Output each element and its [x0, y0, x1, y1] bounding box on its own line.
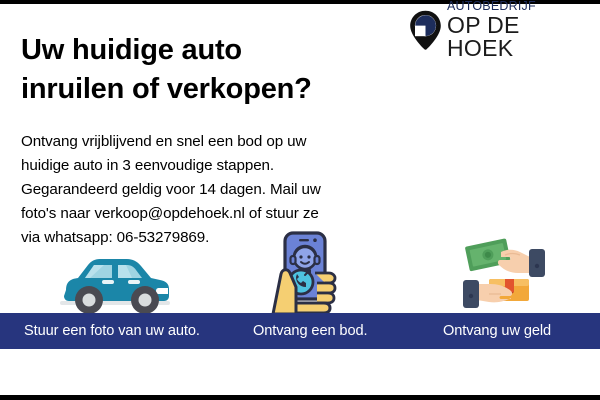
step-label-2: Ontvang een bod.: [253, 313, 367, 349]
logo-bottom-text: OP DE HOEK: [447, 14, 591, 60]
step-icon-row: [0, 228, 600, 316]
logo-wordmark: AUTOBEDRIJF OP DE HOEK: [447, 0, 591, 60]
headline-line-2: inruilen of verkopen?: [21, 70, 421, 109]
headline: Uw huidige auto inruilen of verkopen?: [21, 31, 421, 109]
advertisement-poster: AUTOBEDRIJF OP DE HOEK Uw huidige auto i…: [0, 0, 600, 400]
steps-bar: Stuur een foto van uw auto. Ontvang een …: [0, 313, 600, 349]
hands-exchanging-money-icon: [453, 232, 557, 316]
body-line-2: huidige auto in 3 eenvoudige stappen.: [21, 154, 361, 178]
step-label-3: Ontvang uw geld: [443, 313, 551, 349]
step-label-1: Stuur een foto van uw auto.: [24, 313, 200, 349]
body-line-3: Gegarandeerd geldig voor 14 dagen. Mail …: [21, 178, 361, 202]
step-2-icon-slot: [240, 228, 370, 316]
step-3-icon-slot: [430, 228, 580, 316]
body-line-1: Ontvang vrijblijvend en snel een bod op …: [21, 130, 361, 154]
body-line-4: foto's naar verkoop@opdehoek.nl of stuur…: [21, 202, 361, 226]
headline-line-1: Uw huidige auto: [21, 31, 421, 70]
step-1-icon-slot: [15, 228, 215, 316]
car-icon: [56, 246, 174, 316]
hand-holding-phone-icon: [261, 230, 349, 316]
company-logo: AUTOBEDRIJF OP DE HOEK: [409, 8, 591, 52]
logo-top-text: AUTOBEDRIJF: [447, 0, 591, 13]
bottom-edge-bar: [0, 395, 600, 400]
